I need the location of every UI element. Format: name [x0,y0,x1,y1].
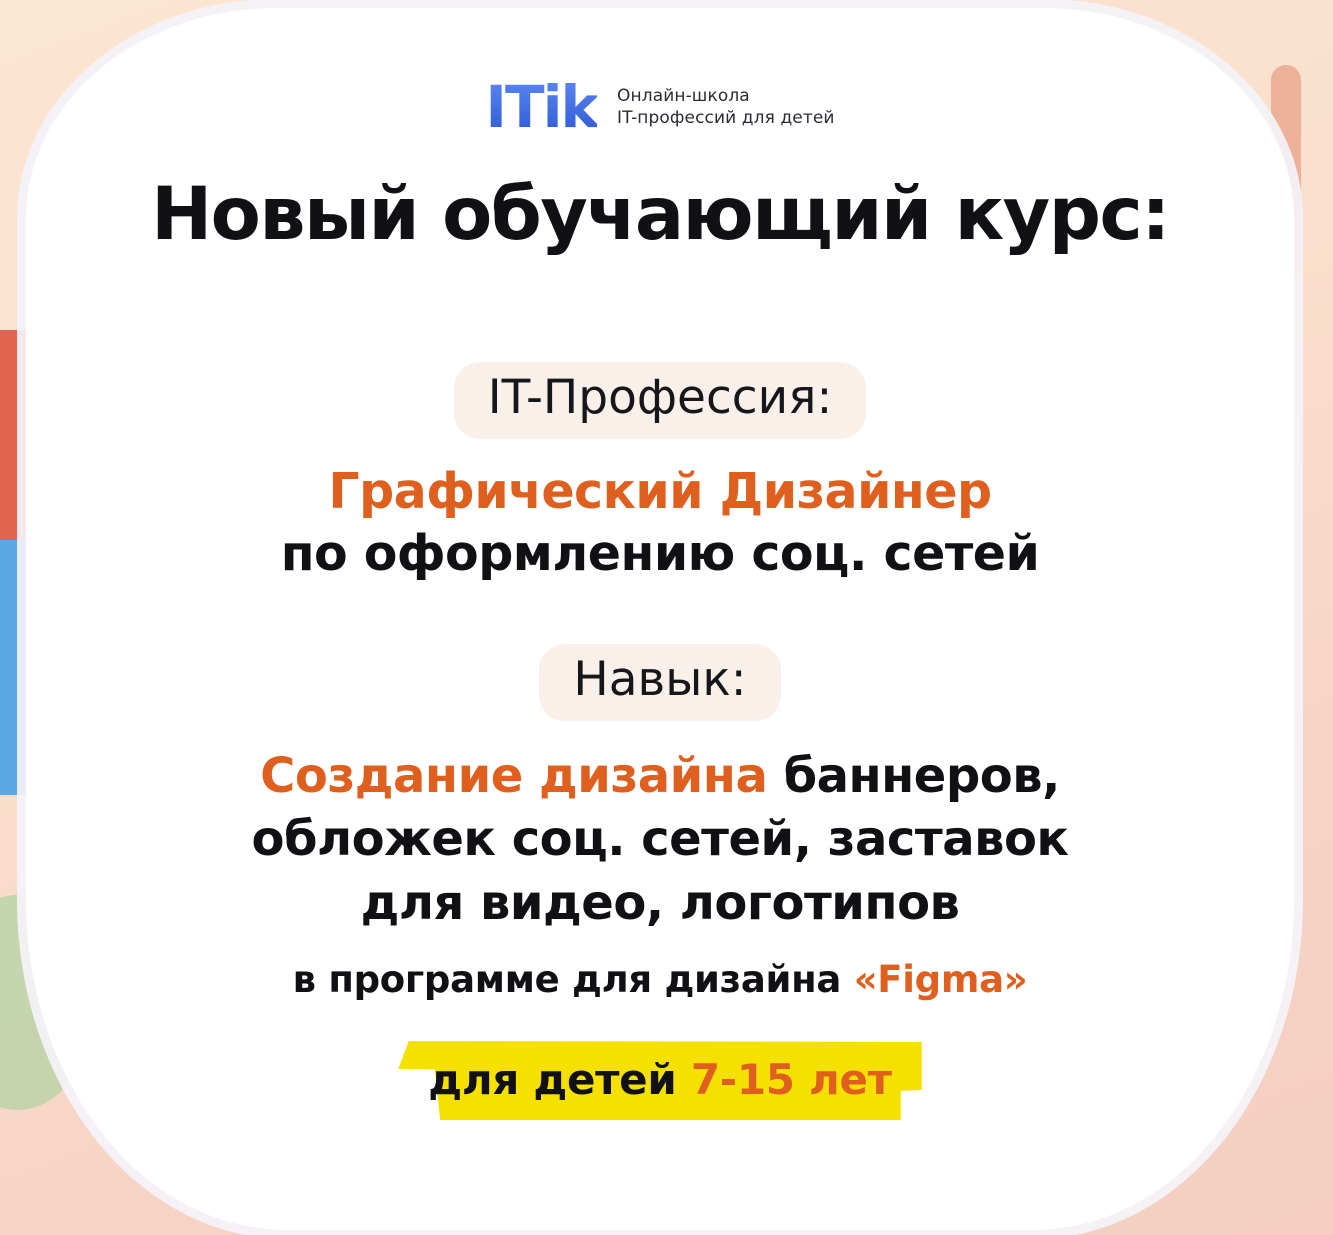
page-title: Новый обучающий курс: [151,178,1169,251]
profession-title: Графический Дизайнер по оформлению соц. … [281,461,1040,586]
audience-prefix: для детей [428,1055,691,1104]
skill-line-1-rest: баннеров, [767,748,1059,804]
promo-poster: ITik Онлайн-школа IT-профессий для детей… [0,0,1333,1235]
profession-title-accent: Графический Дизайнер [281,461,1040,524]
audience-text: для детей 7-15 лет [428,1055,891,1104]
audience-highlight: для детей 7-15 лет [398,1041,921,1120]
brand-tagline: Онлайн-школа IT-профессий для детей [617,85,835,130]
profession-badge: IT-Профессия: [454,362,867,439]
audience-age-range: 7-15 лет [691,1055,892,1104]
skill-line-1: Создание дизайна баннеров, [251,745,1068,809]
program-line: в программе для дизайна «Figma» [293,958,1028,1001]
skill-description: Создание дизайна баннеров, обложек соц. … [251,745,1068,936]
program-prefix: в программе для дизайна [293,958,854,1001]
itik-logo-icon: ITik [485,78,597,136]
content-card: ITik Онлайн-школа IT-профессий для детей… [26,8,1294,1230]
brand-tagline-line2: IT-профессий для детей [617,107,835,129]
skill-line-1-accent: Создание дизайна [260,748,767,804]
brand-tagline-line1: Онлайн-школа [617,85,835,107]
brand-logo: ITik Онлайн-школа IT-профессий для детей [485,78,834,136]
program-name: «Figma» [854,958,1028,1001]
skill-line-2: обложек соц. сетей, заставок [251,808,1068,872]
skill-badge: Навык: [539,644,780,721]
profession-title-rest: по оформлению соц. сетей [281,523,1040,586]
skill-line-3: для видео, логотипов [251,872,1068,936]
